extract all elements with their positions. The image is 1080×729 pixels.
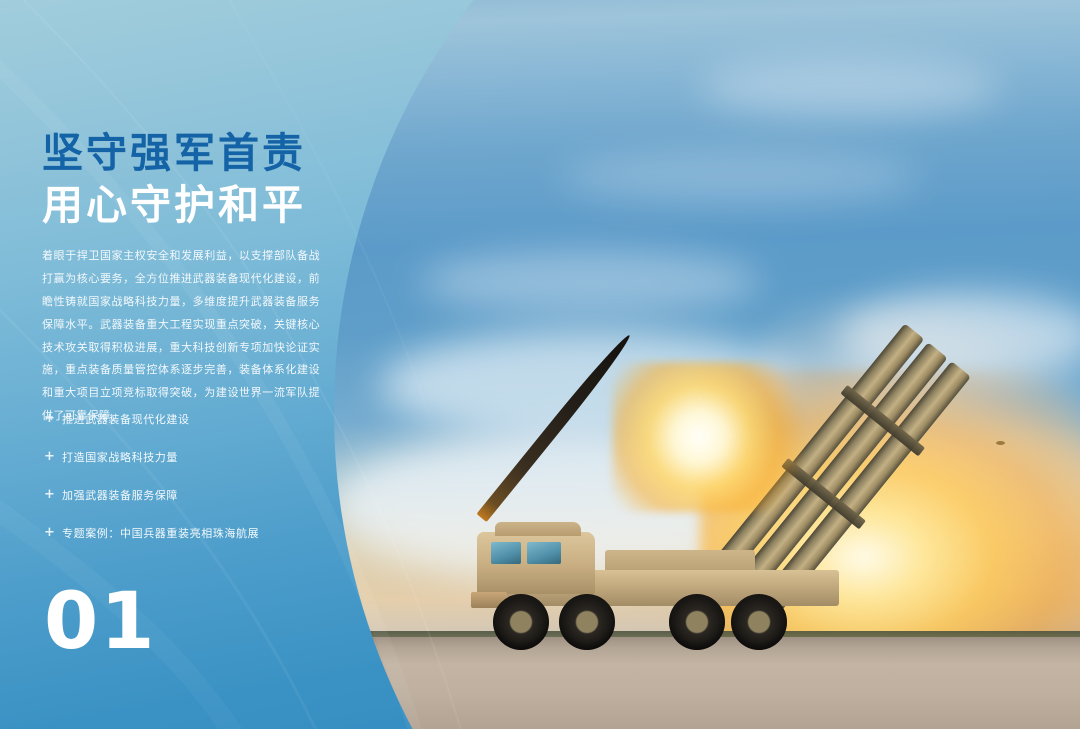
plus-icon: + <box>44 449 62 464</box>
cloud-3 <box>420 250 760 314</box>
list-item[interactable]: + 加强武器装备服务保障 <box>44 481 344 508</box>
cloud-1 <box>700 58 1000 118</box>
plus-icon: + <box>44 525 62 540</box>
list-item-label: 推进武器装备现代化建设 <box>62 411 190 427</box>
section-number: 01 <box>44 583 157 661</box>
title-line-1: 坚守强军首责 <box>42 128 306 180</box>
wheel-2 <box>559 594 615 650</box>
cab-roof <box>495 522 581 536</box>
plus-icon: + <box>44 487 62 502</box>
wheel-4 <box>731 594 787 650</box>
list-item-label: 打造国家战略科技力量 <box>62 449 178 465</box>
cab-window-right <box>527 542 561 564</box>
body-paragraph: 着眼于捍卫国家主权安全和发展利益，以支撑部队备战打赢为核心要务，全方位推进武器装… <box>42 245 320 428</box>
list-item[interactable]: + 专题案例：中国兵器重装亮相珠海航展 <box>44 519 344 546</box>
cloud-2 <box>560 150 920 204</box>
rocket-in-flight <box>476 331 634 522</box>
cab-window-left <box>491 542 521 564</box>
list-item[interactable]: + 打造国家战略科技力量 <box>44 443 344 470</box>
list-item-label: 专题案例：中国兵器重装亮相珠海航展 <box>62 525 259 541</box>
plus-icon: + <box>44 411 62 426</box>
wheel-1 <box>493 594 549 650</box>
bullet-list: + 推进武器装备现代化建设 + 打造国家战略科技力量 + 加强武器装备服务保障 … <box>44 405 344 557</box>
launcher-vehicle <box>455 520 875 680</box>
muzzle-flash <box>612 362 802 512</box>
slide-root: 坚守强军首责 用心守护和平 着眼于捍卫国家主权安全和发展利益，以支撑部队备战打赢… <box>0 0 1080 729</box>
wheel-3 <box>669 594 725 650</box>
list-item-label: 加强武器装备服务保障 <box>62 487 178 503</box>
page-title: 坚守强军首责 用心守护和平 <box>42 128 306 231</box>
text-panel: 坚守强军首责 用心守护和平 着眼于捍卫国家主权安全和发展利益，以支撑部队备战打赢… <box>0 0 430 729</box>
list-item[interactable]: + 推进武器装备现代化建设 <box>44 405 344 432</box>
bird-speck <box>996 441 1005 445</box>
title-line-2: 用心守护和平 <box>42 180 306 232</box>
